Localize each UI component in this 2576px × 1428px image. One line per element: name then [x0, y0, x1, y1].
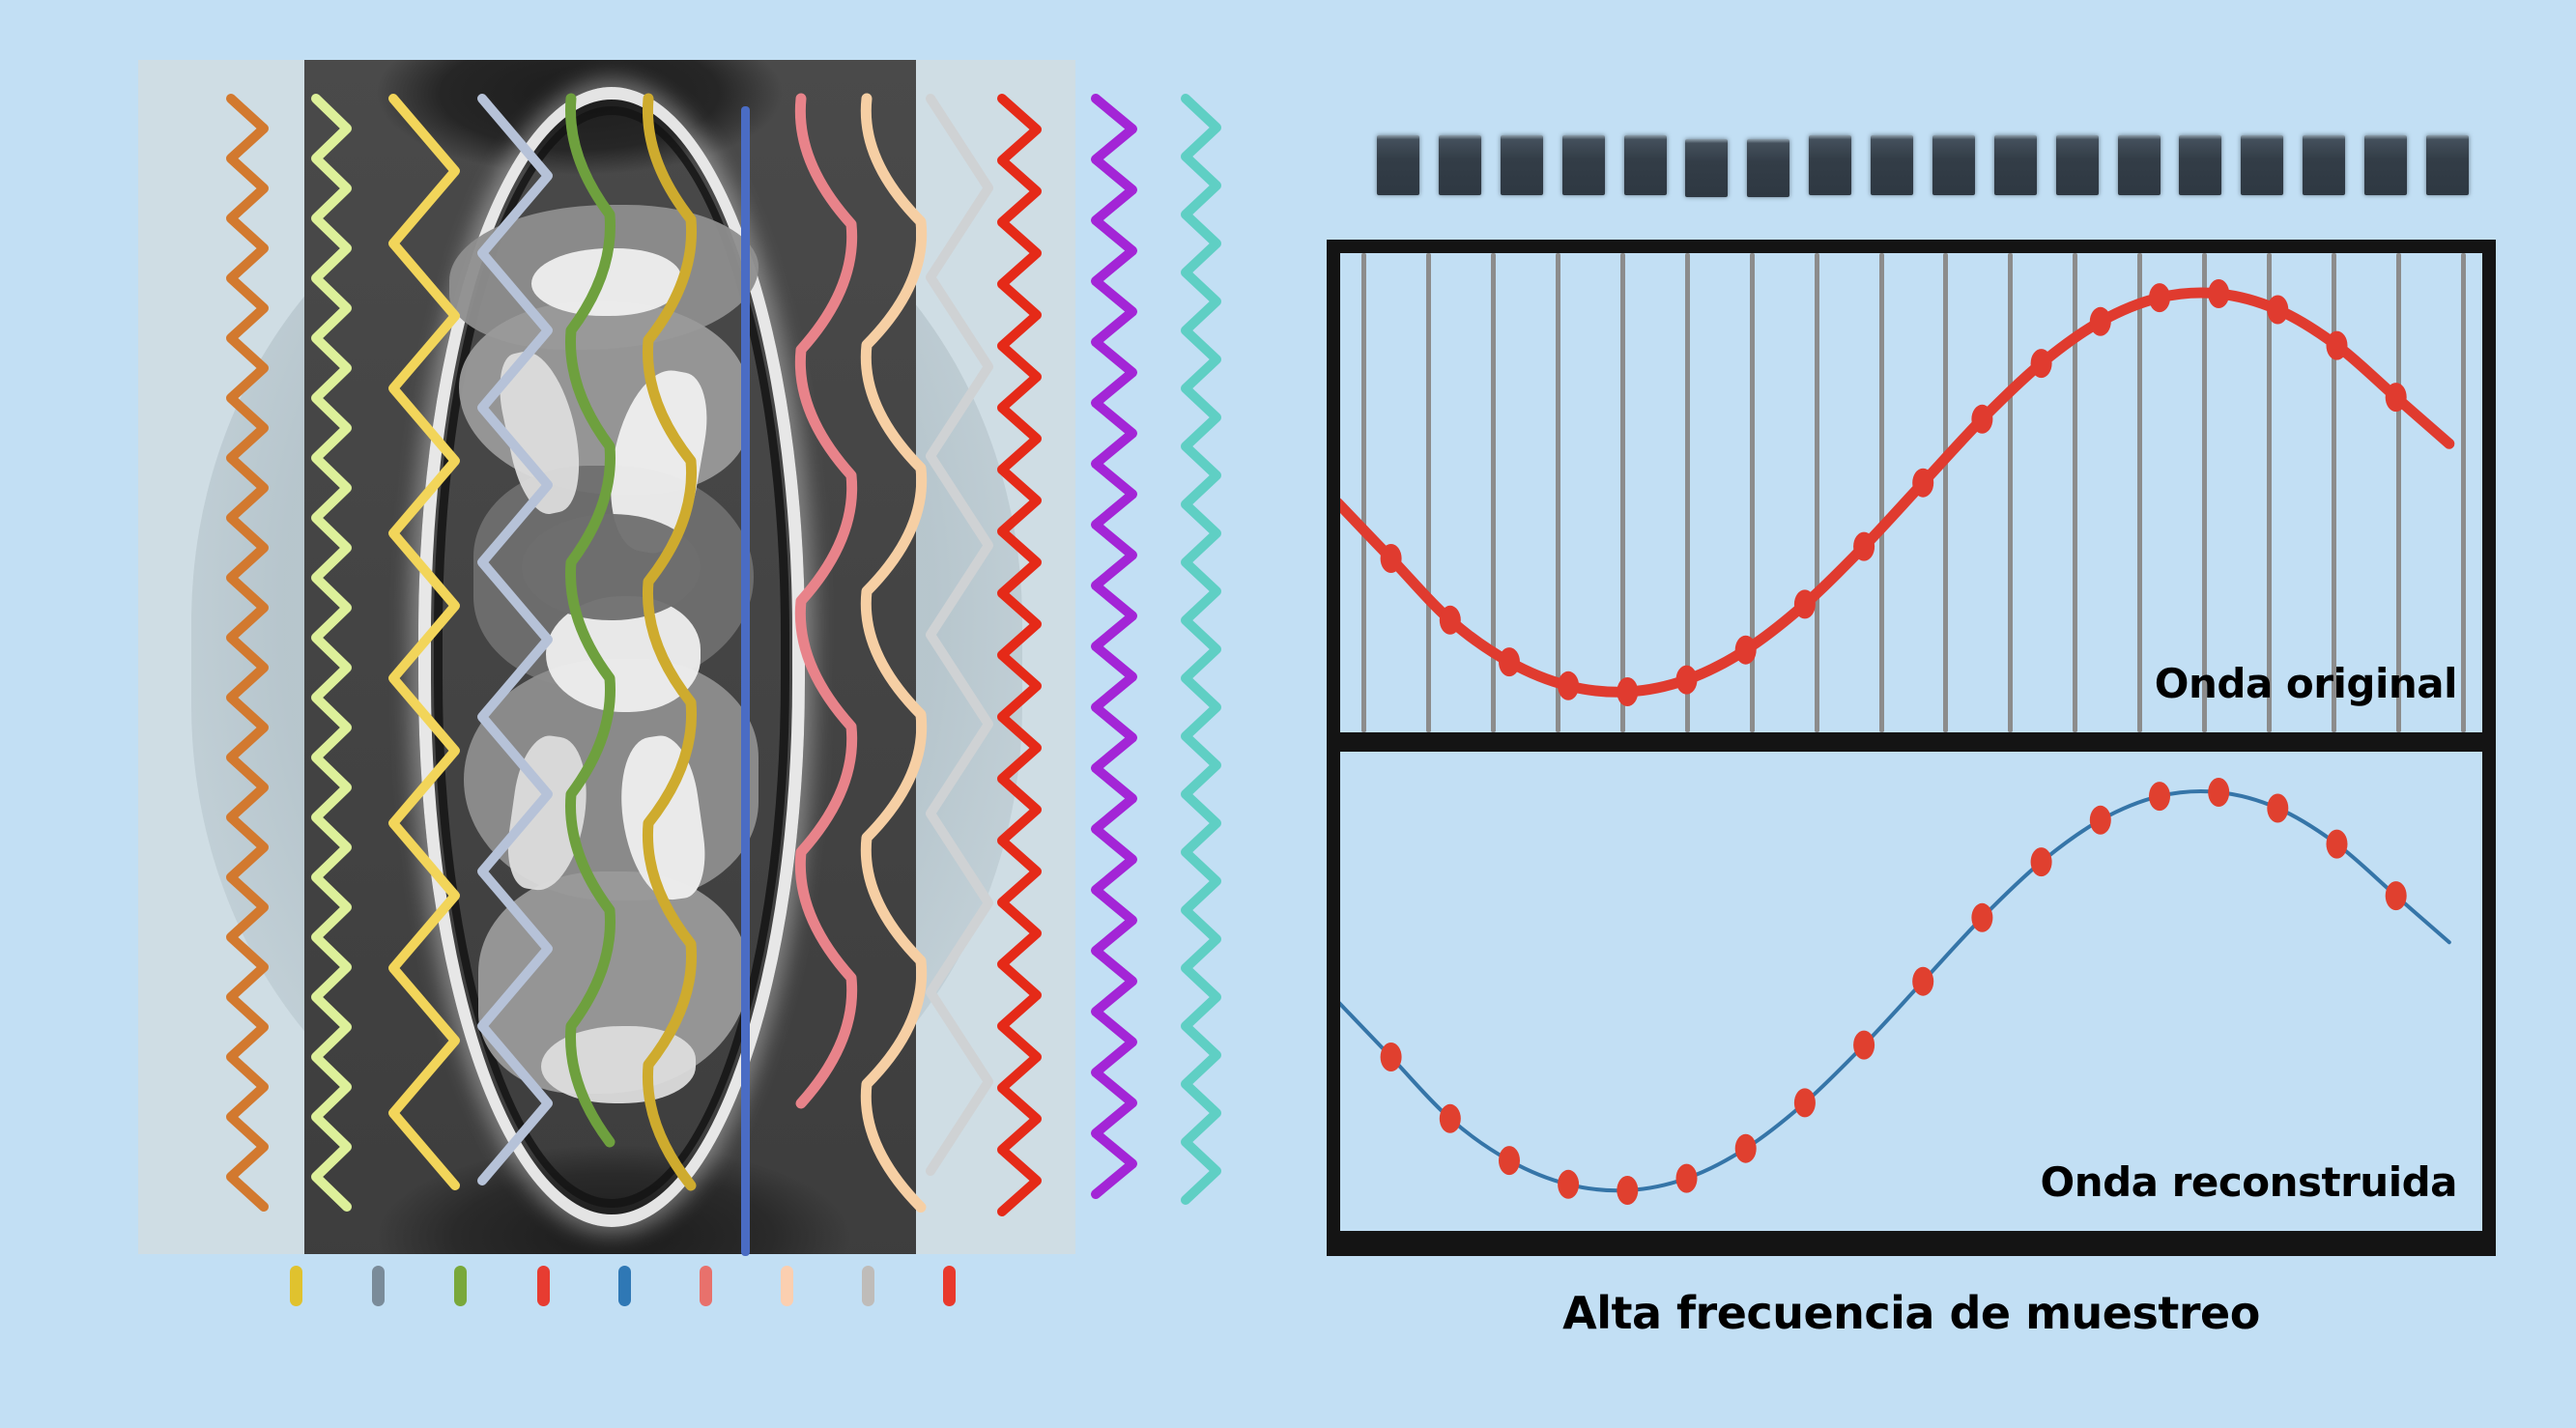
sample-marker: [1735, 636, 1757, 665]
wave-path: [1340, 293, 2449, 692]
sample-marker: [1499, 1146, 1520, 1175]
comb-block: [1871, 135, 1913, 195]
sample-marker: [1617, 1176, 1638, 1205]
sample-marker: [1912, 967, 1933, 996]
sample-marker: [1558, 671, 1579, 700]
brain-mri-slab: [304, 60, 916, 1254]
sample-marker: [2031, 847, 2052, 876]
trace-color-legend: [290, 1266, 928, 1306]
sampling-figure: Onda original Onda reconstruida: [1327, 135, 2496, 1256]
sample-marker: [2327, 830, 2348, 859]
sample-marker: [2267, 296, 2288, 325]
swatch-yellow: [290, 1266, 302, 1306]
comb-block: [1809, 135, 1851, 195]
original-wave-chart: Onda original: [1340, 253, 2482, 732]
swatch-gray: [862, 1266, 874, 1306]
chart-stack: Onda original Onda reconstruida: [1327, 240, 2496, 1256]
swatch-red2: [943, 1266, 956, 1306]
comb-block: [1439, 135, 1481, 195]
sample-marker: [1617, 677, 1638, 706]
sample-marker: [2149, 782, 2170, 811]
comb-block: [2179, 135, 2221, 195]
swatch-salmon: [700, 1266, 712, 1306]
comb-block: [2364, 135, 2407, 195]
comb-block: [1994, 135, 2037, 195]
comb-block: [2241, 135, 2283, 195]
sample-marker: [2386, 881, 2407, 910]
wave-path: [1340, 791, 2449, 1190]
comb-block: [1747, 139, 1789, 197]
comb-block: [2118, 135, 2161, 195]
swatch-blue: [618, 1266, 631, 1306]
gray-matter-blob: [522, 514, 701, 620]
swatch-red: [537, 1266, 550, 1306]
trace-teal: [1162, 60, 1240, 1254]
comb-block: [1932, 135, 1975, 195]
sample-marker: [2386, 383, 2407, 412]
comb-block: [1377, 135, 1419, 195]
sample-marker: [2149, 283, 2170, 312]
sample-marker: [2090, 806, 2111, 835]
swatch-slate: [372, 1266, 385, 1306]
sample-marker: [2208, 778, 2229, 807]
sample-marker: [1735, 1134, 1757, 1163]
sample-marker: [1853, 1031, 1875, 1060]
sample-marker: [1794, 1088, 1816, 1117]
sample-marker: [1381, 544, 1402, 573]
sample-marker: [1440, 606, 1461, 635]
sample-marker: [1676, 666, 1698, 695]
trace-purple-path: [1096, 99, 1132, 1194]
white-matter-blob: [531, 248, 681, 316]
trace-teal-path: [1186, 99, 1216, 1200]
sample-marker: [2208, 279, 2229, 308]
original-wave-label: Onda original: [2155, 660, 2457, 707]
sample-marker: [1971, 903, 1992, 932]
sample-marker: [1499, 647, 1520, 676]
sample-marker: [1912, 469, 1933, 498]
comb-block: [1501, 135, 1543, 195]
comb-block: [2056, 135, 2099, 195]
sample-marker: [2327, 331, 2348, 360]
sample-marker: [1558, 1170, 1579, 1199]
sample-marker: [2267, 794, 2288, 823]
comb-block: [1562, 135, 1605, 195]
sample-marker: [1971, 405, 1992, 434]
sampling-comb: [1377, 135, 2469, 195]
white-matter-blob: [541, 1026, 696, 1103]
figure-root: Onda original Onda reconstruida Alta fre…: [0, 0, 2576, 1428]
swatch-green: [454, 1266, 467, 1306]
sample-marker: [1676, 1164, 1698, 1193]
comb-block: [1624, 135, 1667, 195]
sample-marker: [1794, 589, 1816, 618]
reconstructed-wave-label: Onda reconstruida: [2041, 1158, 2457, 1206]
comb-block: [2303, 135, 2345, 195]
swatch-peach: [781, 1266, 793, 1306]
sample-marker: [2031, 349, 2052, 378]
sample-marker: [1853, 532, 1875, 561]
comb-block: [1685, 139, 1728, 197]
comb-block: [2426, 135, 2469, 195]
trace-purple: [1075, 60, 1153, 1254]
chart-divider: [1340, 732, 2482, 752]
reconstructed-wave-chart: Onda reconstruida: [1340, 752, 2482, 1231]
sample-marker: [1440, 1104, 1461, 1133]
sample-marker: [2090, 307, 2111, 336]
eeg-brain-illustration: [138, 60, 1075, 1254]
sample-marker: [1381, 1042, 1402, 1071]
figure-caption: Alta frecuencia de muestreo: [1327, 1287, 2496, 1339]
